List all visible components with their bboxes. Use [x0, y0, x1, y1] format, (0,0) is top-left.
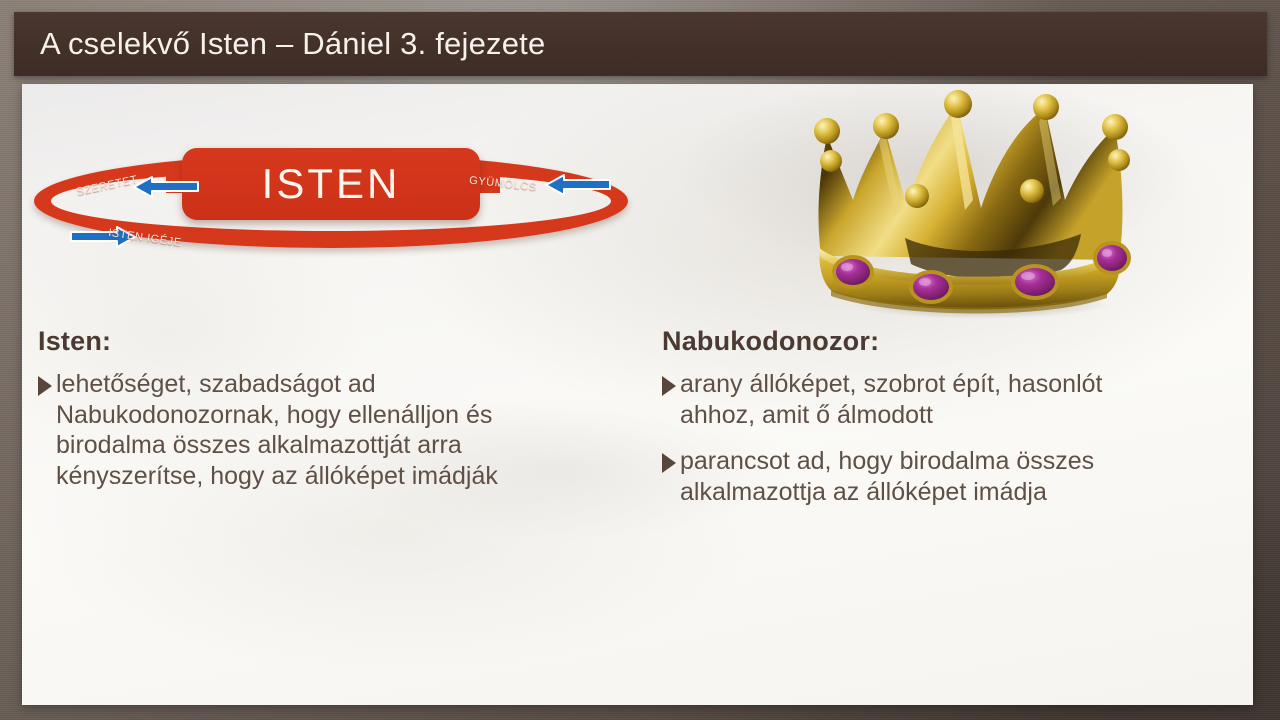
crown-inner-ball-4: [1108, 149, 1130, 171]
crown-tip-ball-4: [1033, 94, 1059, 120]
list-item: arany állóképet, szobrot épít, hasonlót …: [662, 369, 1182, 430]
column-isten-heading: Isten:: [38, 326, 598, 357]
arrow-left-icon-gyumolcs: [542, 174, 612, 196]
triangle-bullet-icon: [38, 376, 52, 396]
arrow-left-icon-szeretet: [130, 176, 200, 198]
golden-crown-image: [785, 88, 1155, 323]
crown-inner-ball-1: [820, 150, 842, 172]
isten-center-label: ISTEN: [262, 160, 401, 208]
isten-cycle-diagram: ISTEN SZERETET ISTEN IGÉJE GYÜMÖLCS: [22, 140, 654, 266]
isten-center-box: ISTEN: [182, 148, 480, 220]
list-item-text: arany állóképet, szobrot épít, hasonlót …: [680, 369, 1182, 430]
column-isten-bullet-list: lehetőséget, szabadságot ad Nabukodonozo…: [38, 369, 598, 491]
column-nabukodonozor-bullet-list: arany állóképet, szobrot épít, hasonlót …: [662, 369, 1182, 507]
crown-inner-ball-3: [1020, 179, 1044, 203]
crown-tip-ball-3: [944, 90, 972, 118]
crown-tip-ball-2: [873, 113, 899, 139]
crown-tip-ball-1: [814, 118, 840, 144]
column-nabukodonozor: Nabukodonozor: arany állóképet, szobrot …: [662, 326, 1182, 523]
slide-content-panel: ISTEN SZERETET ISTEN IGÉJE GYÜMÖLCS: [22, 84, 1253, 705]
crown-inner-ball-2: [905, 184, 929, 208]
slide-title-bar: A cselekvő Isten – Dániel 3. fejezete: [14, 12, 1267, 76]
crown-tip-ball-5: [1102, 114, 1128, 140]
crown-gem-1: [832, 255, 874, 289]
column-isten: Isten: lehetőséget, szabadságot ad Nabuk…: [38, 326, 598, 507]
crown-gem-3: [1011, 264, 1059, 300]
column-nabukodonozor-heading: Nabukodonozor:: [662, 326, 1182, 357]
triangle-bullet-icon: [662, 376, 676, 396]
list-item: parancsot ad, hogy birodalma összes alka…: [662, 446, 1182, 507]
list-item-text: lehetőséget, szabadságot ad Nabukodonozo…: [56, 369, 598, 491]
crown-gem-2: [909, 270, 953, 304]
list-item: lehetőséget, szabadságot ad Nabukodonozo…: [38, 369, 598, 491]
list-item-text: parancsot ad, hogy birodalma összes alka…: [680, 446, 1182, 507]
triangle-bullet-icon: [662, 453, 676, 473]
crown-gem-4: [1093, 241, 1131, 275]
page-title: A cselekvő Isten – Dániel 3. fejezete: [14, 26, 545, 62]
